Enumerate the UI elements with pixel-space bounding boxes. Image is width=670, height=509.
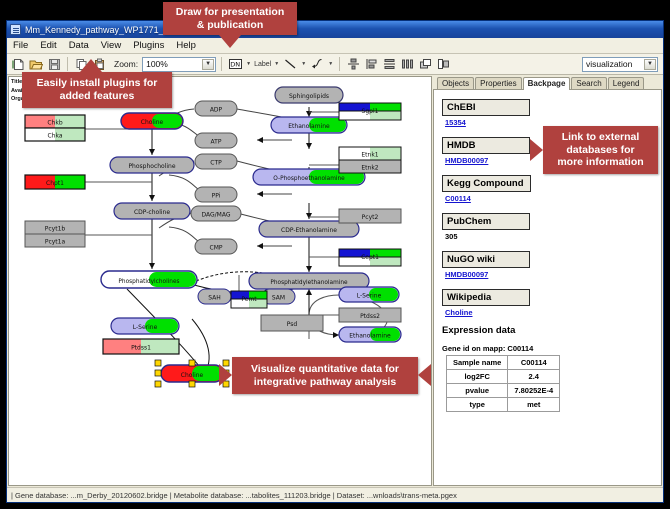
svg-text:DN: DN (230, 60, 240, 68)
bring-to-front-icon[interactable] (435, 56, 451, 72)
visualization-value: visualization (586, 59, 632, 69)
chevron-down-icon-2[interactable]: ▼ (644, 59, 656, 70)
node-dag-mag: DAG/MAG (191, 206, 241, 221)
svg-text:Phosphatidylcholines: Phosphatidylcholines (118, 279, 179, 285)
svg-text:Pcyt1b: Pcyt1b (45, 226, 66, 233)
svg-text:Choline: Choline (181, 372, 204, 379)
gene-box-psd: Psd (261, 315, 323, 331)
label-tool-label[interactable]: Label (254, 61, 271, 68)
side-panel-tabs: Objects Properties Backpage Search Legen… (433, 76, 662, 90)
svg-text:Pcyt2: Pcyt2 (362, 214, 379, 221)
menu-item-edit[interactable]: Edit (34, 40, 62, 51)
svg-text:Etnk1: Etnk1 (361, 152, 378, 159)
new-file-icon[interactable] (10, 56, 26, 72)
expression-data-heading: Expression data (442, 325, 661, 336)
svg-text:SAH: SAH (208, 295, 221, 302)
align-left-icon[interactable] (363, 56, 379, 72)
node-cdp-choline: CDP-choline (114, 203, 190, 219)
chevron-down-icon[interactable]: ▼ (202, 59, 214, 70)
line-tool-icon[interactable] (282, 56, 298, 72)
callout-link-line3: more information (557, 156, 643, 169)
node-choline: Choline (121, 113, 183, 129)
callout-visualize: Visualize quantitative data for integrat… (232, 357, 418, 394)
gene-box-etnk: Etnk1 Etnk2 (339, 147, 401, 173)
align-center-icon[interactable] (345, 56, 361, 72)
svg-text:ADP: ADP (210, 107, 223, 114)
table-row: type met (447, 398, 560, 412)
svg-text:Chka: Chka (47, 133, 62, 140)
visualization-combo[interactable]: visualization ▼ (582, 57, 658, 72)
gene-box-chk: Chkb Chka (25, 115, 85, 141)
callout-draw-line1: Draw for presentation (176, 6, 285, 19)
svg-text:O-Phosphoethanolamine: O-Phosphoethanolamine (273, 176, 345, 182)
svg-text:Sphingolipids: Sphingolipids (289, 93, 329, 100)
menu-item-view[interactable]: View (95, 40, 127, 51)
label-dropdown-icon[interactable]: ▼ (273, 61, 280, 67)
pathway-canvas[interactable]: Sphingolipids Ethanolamine O-Phosphoetha… (8, 76, 432, 486)
interaction-tool-icon[interactable] (309, 56, 325, 72)
svg-text:Phosphatidylethanolamine: Phosphatidylethanolamine (270, 280, 348, 286)
svg-text:Ethanolamine: Ethanolamine (349, 333, 391, 340)
db-link-kegg-compound[interactable]: C00114 (445, 194, 661, 203)
datanode-dropdown-icon[interactable]: ▼ (245, 61, 252, 67)
node-ethanolamine: Ethanolamine (271, 117, 347, 133)
callout-link-line1: Link to external (562, 131, 640, 144)
gene-box-ptdss2: Ptdss2 (339, 308, 401, 322)
gene-box-pemt: Pemt (231, 291, 267, 308)
tab-objects[interactable]: Objects (437, 77, 474, 89)
expr-key-sample-name: Sample name (447, 356, 508, 370)
datanode-icon[interactable]: DN (227, 56, 243, 72)
gene-id-on-mapp: Gene id on mapp: C00114 (442, 344, 661, 353)
db-header-kegg-compound: Kegg Compound (442, 175, 531, 192)
send-to-back-icon[interactable] (417, 56, 433, 72)
db-header-wikipedia: Wikipedia (442, 289, 530, 306)
node-atp: ATP (195, 133, 237, 148)
app-icon (10, 24, 21, 35)
callout-visualize-pointer-right-icon (418, 364, 431, 386)
svg-text:Ptdss1: Ptdss1 (131, 345, 151, 352)
toolbar-separator-3 (339, 57, 340, 71)
callout-plugins-pointer-icon (80, 59, 102, 72)
svg-text:CDP-Ethanolamine: CDP-Ethanolamine (281, 227, 337, 234)
menu-item-plugins[interactable]: Plugins (127, 40, 170, 51)
expr-val-pvalue: 7.80252E-4 (508, 384, 560, 398)
expr-val-type: met (508, 398, 560, 412)
tab-backpage[interactable]: Backpage (523, 77, 571, 90)
node-phosphocholine: Phosphocholine (110, 157, 194, 173)
gene-box-chpt1: Chpt1 (25, 175, 85, 189)
callout-visualize-pointer-left-icon (219, 364, 232, 386)
distribute-vertical-icon[interactable] (381, 56, 397, 72)
node-ppi: PPi (195, 187, 237, 202)
gene-box-pcyt1: Pcyt1b Pcyt1a (25, 221, 85, 247)
gene-box-ptdss1: Ptdss1 (103, 339, 179, 354)
expr-key-type: type (447, 398, 508, 412)
svg-text:Phosphocholine: Phosphocholine (128, 163, 175, 170)
node-l-serine-left: L-Serine (111, 318, 179, 334)
db-header-nugo-wiki: NuGO wiki (442, 251, 530, 268)
callout-draw: Draw for presentation & publication (163, 2, 297, 35)
zoom-value: 100% (146, 59, 168, 69)
save-file-icon[interactable] (46, 56, 62, 72)
gene-box-cept1: Cept1 (339, 249, 401, 266)
zoom-label: Zoom: (114, 59, 138, 69)
svg-text:Chpt1: Chpt1 (46, 180, 64, 187)
svg-text:Pcyt1a: Pcyt1a (45, 239, 66, 246)
svg-text:PPi: PPi (212, 193, 221, 200)
db-link-nugo-wiki[interactable]: HMDB00097 (445, 270, 661, 279)
svg-text:CTP: CTP (210, 160, 222, 167)
node-cmp: CMP (195, 239, 237, 254)
status-bar-text: | Gene database: ...m_Derby_20120602.bri… (11, 491, 457, 500)
node-sphingolipids: Sphingolipids (275, 87, 343, 103)
gene-box-pcyt2: Pcyt2 (339, 209, 401, 223)
line-dropdown-icon[interactable]: ▼ (300, 61, 307, 67)
tab-properties[interactable]: Properties (475, 77, 521, 89)
db-header-hmdb: HMDB (442, 137, 530, 154)
zoom-combo[interactable]: 100% ▼ (142, 57, 216, 72)
tab-legend[interactable]: Legend (608, 77, 645, 89)
svg-text:L-Serine: L-Serine (133, 324, 158, 331)
toolbar-separator-1 (67, 57, 68, 71)
expr-val-sample-name: C00114 (508, 356, 560, 370)
callout-link-line2: databases for (566, 144, 634, 157)
node-choline-selected: Choline (155, 360, 229, 387)
node-phosphatidylcholines: Phosphatidylcholines (101, 271, 197, 288)
db-header-pubchem: PubChem (442, 213, 530, 230)
svg-text:Psd: Psd (287, 321, 298, 328)
open-file-icon[interactable] (28, 56, 44, 72)
table-row: Sample name C00114 (447, 356, 560, 370)
expression-table: Sample name C00114 log2FC 2.4 pvalue 7.8… (446, 355, 560, 412)
svg-text:Sgpl1: Sgpl1 (362, 108, 379, 115)
node-ethanolamine-2: Ethanolamine (339, 327, 401, 342)
table-row: log2FC 2.4 (447, 370, 560, 384)
callout-visualize-line2: integrative pathway analysis (254, 376, 396, 389)
callout-plugins: Easily install plugins for added feature… (22, 72, 172, 108)
menu-item-file[interactable]: File (7, 40, 34, 51)
toolbar-separator-2 (221, 57, 222, 71)
callout-plugins-line2: added features (60, 90, 135, 103)
callout-link-databases: Link to external databases for more info… (543, 126, 658, 174)
svg-text:Choline: Choline (141, 119, 164, 126)
callout-draw-pointer-icon (219, 35, 241, 48)
table-row: pvalue 7.80252E-4 (447, 384, 560, 398)
status-bar: | Gene database: ...m_Derby_20120602.bri… (7, 487, 663, 502)
svg-text:DAG/MAG: DAG/MAG (201, 212, 230, 219)
db-link-wikipedia[interactable]: Choline (445, 308, 661, 317)
callout-plugins-line1: Easily install plugins for (37, 77, 158, 90)
svg-text:Cept1: Cept1 (361, 254, 379, 261)
svg-text:SAM: SAM (272, 295, 285, 302)
interaction-dropdown-icon[interactable]: ▼ (327, 61, 334, 67)
svg-text:L-Serine: L-Serine (357, 293, 382, 300)
tab-search[interactable]: Search (571, 77, 606, 89)
expr-key-pvalue: pvalue (447, 384, 508, 398)
title-bar: Mm_Kennedy_pathway_WP1771_45176.gpml (7, 21, 663, 38)
expr-val-log2fc: 2.4 (508, 370, 560, 384)
expr-key-log2fc: log2FC (447, 370, 508, 384)
db-header-chebi: ChEBI (442, 99, 530, 116)
callout-draw-line2: & publication (197, 19, 264, 32)
node-sah: SAH (198, 289, 231, 304)
svg-text:Chkb: Chkb (47, 120, 62, 127)
db-value-pubchem: 305 (445, 232, 661, 241)
svg-text:ATP: ATP (211, 139, 222, 146)
distribute-horizontal-icon[interactable] (399, 56, 415, 72)
menu-item-help[interactable]: Help (170, 40, 202, 51)
pathway-diagram[interactable]: Sphingolipids Ethanolamine O-Phosphoetha… (9, 77, 431, 486)
svg-text:Ptdss2: Ptdss2 (360, 313, 380, 320)
svg-text:Pemt: Pemt (241, 296, 257, 303)
gene-box-sgpl1: Sgpl1 (339, 103, 401, 120)
callout-visualize-line1: Visualize quantitative data for (251, 363, 399, 376)
svg-text:Etnk2: Etnk2 (361, 165, 378, 172)
node-ctp: CTP (195, 154, 237, 169)
svg-text:CDP-choline: CDP-choline (134, 209, 170, 216)
svg-text:CMP: CMP (210, 245, 223, 252)
menu-bar: File Edit Data View Plugins Help (7, 38, 663, 54)
menu-item-data[interactable]: Data (63, 40, 95, 51)
callout-link-pointer-icon (530, 139, 543, 161)
node-l-serine-right: L-Serine (339, 287, 399, 302)
node-adp: ADP (195, 101, 237, 116)
svg-text:Ethanolamine: Ethanolamine (288, 123, 330, 130)
